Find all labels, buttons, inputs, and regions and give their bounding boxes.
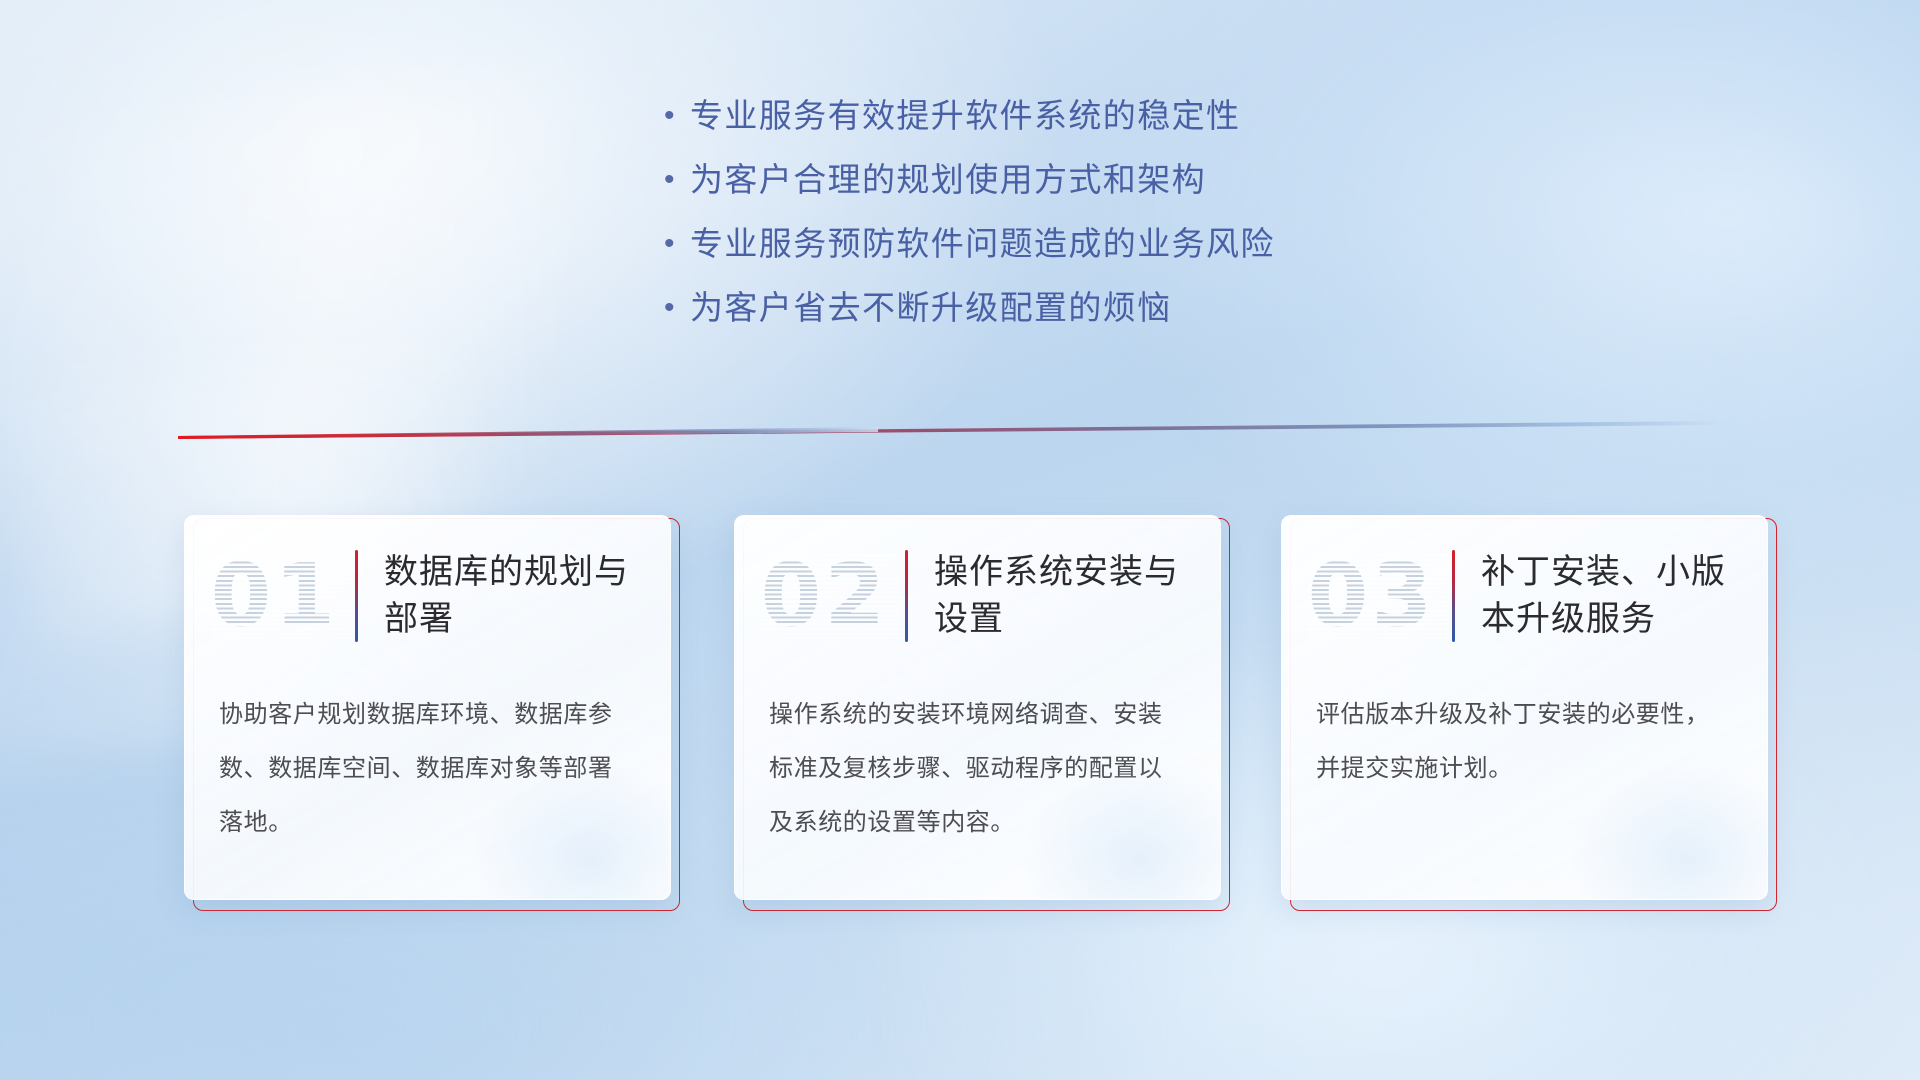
card-number: 02 bbox=[761, 553, 901, 639]
card-number: 01 bbox=[211, 553, 351, 639]
bullet-text: 为客户省去不断升级配置的烦恼 bbox=[690, 286, 1172, 330]
card-header: 02 操作系统安装与设置 bbox=[735, 516, 1220, 676]
card-title: 数据库的规划与部署 bbox=[384, 549, 634, 643]
section-divider bbox=[178, 414, 1718, 440]
card-surface: 01 数据库的规划与部署 协助客户规划数据库环境、数据库参数、数据库空间、数据库… bbox=[184, 515, 671, 900]
list-item: • 专业服务有效提升软件系统的稳定性 bbox=[660, 94, 1480, 158]
bullet-point-icon: • bbox=[660, 158, 690, 202]
service-cards-row: 01 数据库的规划与部署 协助客户规划数据库环境、数据库参数、数据库空间、数据库… bbox=[0, 515, 1920, 935]
card-description: 评估版本升级及补丁安装的必要性，并提交实施计划。 bbox=[1282, 676, 1767, 796]
service-card[interactable]: 02 操作系统安装与设置 操作系统的安装环境网络调查、安装标准及复核步骤、驱动程… bbox=[734, 515, 1230, 911]
service-card[interactable]: 01 数据库的规划与部署 协助客户规划数据库环境、数据库参数、数据库空间、数据库… bbox=[184, 515, 680, 911]
card-number: 03 bbox=[1308, 553, 1448, 639]
bullet-text: 专业服务预防软件问题造成的业务风险 bbox=[690, 222, 1275, 266]
card-title-rule bbox=[905, 550, 908, 642]
tapered-divider-icon bbox=[178, 414, 1718, 440]
card-surface: 03 补丁安装、小版本升级服务 评估版本升级及补丁安装的必要性，并提交实施计划。 bbox=[1281, 515, 1768, 900]
card-surface: 02 操作系统安装与设置 操作系统的安装环境网络调查、安装标准及复核步骤、驱动程… bbox=[734, 515, 1221, 900]
card-title: 补丁安装、小版本升级服务 bbox=[1481, 549, 1731, 643]
bullet-text: 专业服务有效提升软件系统的稳定性 bbox=[690, 94, 1240, 138]
list-item: • 专业服务预防软件问题造成的业务风险 bbox=[660, 222, 1480, 286]
bullet-point-icon: • bbox=[660, 286, 690, 330]
service-card[interactable]: 03 补丁安装、小版本升级服务 评估版本升级及补丁安装的必要性，并提交实施计划。 bbox=[1281, 515, 1777, 911]
card-title: 操作系统安装与设置 bbox=[934, 549, 1184, 643]
benefits-bullet-list: • 专业服务有效提升软件系统的稳定性 • 为客户合理的规划使用方式和架构 • 专… bbox=[660, 94, 1480, 350]
list-item: • 为客户省去不断升级配置的烦恼 bbox=[660, 286, 1480, 350]
card-description: 操作系统的安装环境网络调查、安装标准及复核步骤、驱动程序的配置以及系统的设置等内… bbox=[735, 676, 1220, 850]
card-title-rule bbox=[1452, 550, 1455, 642]
card-description: 协助客户规划数据库环境、数据库参数、数据库空间、数据库对象等部署落地。 bbox=[185, 676, 670, 850]
bullet-point-icon: • bbox=[660, 94, 690, 138]
card-title-rule bbox=[355, 550, 358, 642]
card-header: 01 数据库的规划与部署 bbox=[185, 516, 670, 676]
card-header: 03 补丁安装、小版本升级服务 bbox=[1282, 516, 1767, 676]
list-item: • 为客户合理的规划使用方式和架构 bbox=[660, 158, 1480, 222]
bullet-text: 为客户合理的规划使用方式和架构 bbox=[690, 158, 1206, 202]
bullet-point-icon: • bbox=[660, 222, 690, 266]
